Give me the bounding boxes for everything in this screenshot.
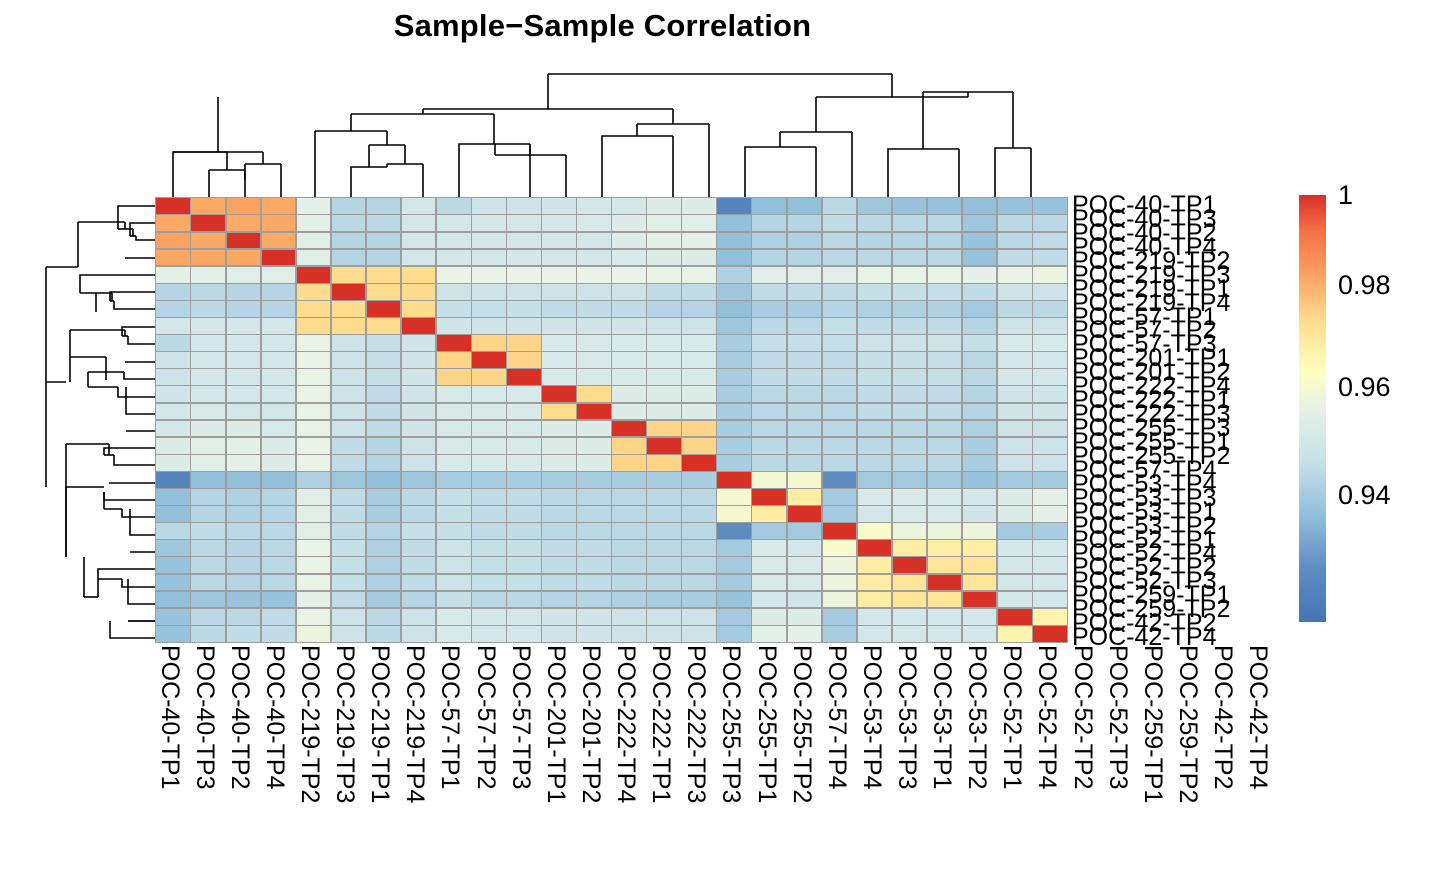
heatmap-cell — [928, 421, 962, 437]
heatmap-cell — [262, 198, 296, 214]
heatmap-cell — [262, 352, 296, 368]
heatmap-cell — [823, 284, 857, 300]
heatmap-cell — [998, 575, 1032, 591]
column-label: POC-57-TP2 — [473, 645, 498, 789]
heatmap-cell — [752, 438, 786, 454]
heatmap-cell — [472, 335, 506, 351]
heatmap-cell — [788, 267, 822, 283]
column-label: POC-53-TP2 — [964, 645, 989, 789]
heatmap-cell — [647, 472, 681, 488]
heatmap-cell — [963, 592, 997, 608]
heatmap-cell — [507, 557, 541, 573]
row-dendrogram — [18, 197, 155, 643]
heatmap-cell — [682, 609, 716, 625]
heatmap-cell — [191, 404, 225, 420]
heatmap-cell — [437, 352, 471, 368]
heatmap-cell — [402, 335, 436, 351]
heatmap-cell — [402, 421, 436, 437]
heatmap-cell — [998, 557, 1032, 573]
heatmap-cell — [788, 335, 822, 351]
heatmap-cell — [858, 369, 892, 385]
heatmap-cell — [227, 506, 261, 522]
heatmap-cell — [647, 301, 681, 317]
heatmap-cell — [788, 404, 822, 420]
heatmap-cell — [1033, 523, 1067, 539]
heatmap-cell — [191, 369, 225, 385]
heatmap-cell — [156, 506, 190, 522]
heatmap-cell — [227, 609, 261, 625]
heatmap-cell — [612, 472, 646, 488]
heatmap-cell — [542, 233, 576, 249]
heatmap-cell — [507, 215, 541, 231]
heatmap-cell — [542, 557, 576, 573]
heatmap-cell — [717, 250, 751, 266]
heatmap-cell — [612, 215, 646, 231]
heatmap-cell — [717, 626, 751, 642]
heatmap-cell — [998, 386, 1032, 402]
heatmap-cell — [577, 233, 611, 249]
heatmap-cell — [788, 233, 822, 249]
heatmap-cell — [717, 421, 751, 437]
heatmap-cell — [928, 284, 962, 300]
heatmap-cell — [367, 421, 401, 437]
heatmap-cell — [1033, 386, 1067, 402]
heatmap-cell — [998, 198, 1032, 214]
heatmap-cell — [156, 335, 190, 351]
heatmap-cell — [752, 369, 786, 385]
heatmap-cell — [682, 575, 716, 591]
heatmap-cell — [1033, 472, 1067, 488]
heatmap-cell — [402, 540, 436, 556]
heatmap-cell — [437, 335, 471, 351]
heatmap-cell — [928, 198, 962, 214]
heatmap-cell — [682, 301, 716, 317]
heatmap-cell — [858, 489, 892, 505]
heatmap-cell — [682, 557, 716, 573]
heatmap-cell — [717, 472, 751, 488]
heatmap-cell — [367, 540, 401, 556]
heatmap-cell — [788, 421, 822, 437]
heatmap-cell — [437, 404, 471, 420]
heatmap-cell — [437, 557, 471, 573]
heatmap-cell — [577, 540, 611, 556]
page-title: Sample−Sample Correlation — [0, 8, 1205, 44]
heatmap-cell — [647, 506, 681, 522]
heatmap-cell — [297, 438, 331, 454]
heatmap-cell — [893, 404, 927, 420]
heatmap-cell — [752, 421, 786, 437]
heatmap-cell — [542, 198, 576, 214]
heatmap-cell — [542, 284, 576, 300]
column-label: POC-219-TP4 — [402, 645, 427, 803]
heatmap-cell — [893, 301, 927, 317]
heatmap-cell — [717, 215, 751, 231]
column-label: POC-53-TP4 — [859, 645, 884, 789]
heatmap-cell — [191, 215, 225, 231]
heatmap-cell — [332, 506, 366, 522]
heatmap-cell — [367, 301, 401, 317]
heatmap-cell — [612, 369, 646, 385]
heatmap-cell — [823, 438, 857, 454]
heatmap-cell — [752, 335, 786, 351]
heatmap-cell — [858, 609, 892, 625]
heatmap-cell — [437, 523, 471, 539]
heatmap-cell — [612, 284, 646, 300]
heatmap-cell — [472, 301, 506, 317]
column-label: POC-57-TP1 — [437, 645, 462, 789]
heatmap-cell — [752, 267, 786, 283]
heatmap-cell — [367, 352, 401, 368]
heatmap-cell — [647, 386, 681, 402]
heatmap-cell — [507, 421, 541, 437]
heatmap-cell — [156, 369, 190, 385]
heatmap-cell — [858, 557, 892, 573]
column-label: POC-201-TP1 — [543, 645, 568, 803]
heatmap-cell — [402, 233, 436, 249]
heatmap-cell — [893, 489, 927, 505]
heatmap-cell — [402, 386, 436, 402]
heatmap-cell — [752, 386, 786, 402]
heatmap-cell — [191, 489, 225, 505]
column-dendrogram — [155, 52, 1068, 197]
heatmap-cell — [752, 352, 786, 368]
heatmap-cell — [893, 215, 927, 231]
heatmap-cell — [823, 198, 857, 214]
heatmap-cell — [963, 472, 997, 488]
heatmap-cell — [507, 318, 541, 334]
heatmap-cell — [682, 267, 716, 283]
heatmap-cell — [893, 233, 927, 249]
heatmap-cell — [647, 369, 681, 385]
heatmap-cell — [472, 318, 506, 334]
heatmap-grid[interactable] — [155, 197, 1068, 643]
heatmap-cell — [472, 626, 506, 642]
heatmap-cell — [963, 557, 997, 573]
heatmap-cell — [507, 592, 541, 608]
heatmap-cell — [893, 335, 927, 351]
heatmap-cell — [752, 215, 786, 231]
heatmap-cell — [647, 233, 681, 249]
heatmap-cell — [963, 523, 997, 539]
heatmap-cell — [367, 609, 401, 625]
heatmap-cell — [823, 455, 857, 471]
heatmap-cell — [788, 489, 822, 505]
heatmap-cell — [1033, 506, 1067, 522]
heatmap-cell — [191, 592, 225, 608]
heatmap-cell — [963, 318, 997, 334]
heatmap-cell — [717, 352, 751, 368]
heatmap-cell — [998, 592, 1032, 608]
heatmap-cell — [682, 489, 716, 505]
column-label: POC-222-TP1 — [648, 645, 673, 803]
heatmap-cell — [998, 421, 1032, 437]
heatmap-cell — [332, 489, 366, 505]
heatmap-cell — [297, 318, 331, 334]
heatmap-cell — [191, 250, 225, 266]
heatmap-cell — [472, 438, 506, 454]
heatmap-cell — [893, 352, 927, 368]
heatmap-cell — [542, 335, 576, 351]
heatmap-cell — [963, 404, 997, 420]
heatmap-cell — [998, 523, 1032, 539]
heatmap-cell — [788, 472, 822, 488]
heatmap-cell — [963, 421, 997, 437]
heatmap-cell — [577, 250, 611, 266]
heatmap-cell — [752, 455, 786, 471]
heatmap-cell — [647, 609, 681, 625]
heatmap-cell — [612, 557, 646, 573]
heatmap-cell — [647, 421, 681, 437]
heatmap-cell — [647, 215, 681, 231]
heatmap-cell — [963, 369, 997, 385]
heatmap-cell — [963, 250, 997, 266]
heatmap-cell — [262, 404, 296, 420]
heatmap-cell — [858, 335, 892, 351]
heatmap-cell — [858, 198, 892, 214]
heatmap-cell — [156, 215, 190, 231]
heatmap-cell — [542, 267, 576, 283]
heatmap-cell — [928, 215, 962, 231]
heatmap-cell — [191, 233, 225, 249]
column-label: POC-219-TP2 — [297, 645, 322, 803]
heatmap-cell — [963, 609, 997, 625]
heatmap-cell — [647, 335, 681, 351]
heatmap-cell — [402, 215, 436, 231]
heatmap-cell — [823, 233, 857, 249]
heatmap-cell — [297, 575, 331, 591]
heatmap-cell — [647, 540, 681, 556]
heatmap-cell — [858, 386, 892, 402]
heatmap-cell — [227, 233, 261, 249]
heatmap-cell — [612, 198, 646, 214]
column-label: POC-219-TP1 — [367, 645, 392, 803]
heatmap-cell — [332, 301, 366, 317]
column-label: POC-53-TP3 — [894, 645, 919, 789]
heatmap-cell — [612, 438, 646, 454]
heatmap-cell — [297, 198, 331, 214]
heatmap-cell — [542, 318, 576, 334]
heatmap-cell — [542, 438, 576, 454]
heatmap-cell — [612, 540, 646, 556]
heatmap-cell — [297, 609, 331, 625]
heatmap-cell — [998, 301, 1032, 317]
heatmap-cell — [928, 540, 962, 556]
heatmap-cell — [1033, 250, 1067, 266]
heatmap-cell — [227, 438, 261, 454]
heatmap-cell — [1033, 267, 1067, 283]
heatmap-cell — [893, 540, 927, 556]
heatmap-cell — [332, 267, 366, 283]
heatmap-cell — [1033, 335, 1067, 351]
heatmap-cell — [332, 609, 366, 625]
heatmap-cell — [788, 506, 822, 522]
heatmap-cell — [507, 575, 541, 591]
heatmap-cell — [577, 489, 611, 505]
heatmap-cell — [297, 506, 331, 522]
heatmap-cell — [542, 369, 576, 385]
heatmap-cell — [437, 215, 471, 231]
heatmap-cell — [437, 233, 471, 249]
heatmap-cell — [262, 301, 296, 317]
heatmap-cell — [577, 198, 611, 214]
heatmap-cell — [191, 557, 225, 573]
heatmap-cell — [191, 267, 225, 283]
heatmap-cell — [577, 369, 611, 385]
heatmap-cell — [227, 626, 261, 642]
heatmap-cell — [682, 455, 716, 471]
heatmap-cell — [752, 592, 786, 608]
heatmap-cell — [472, 233, 506, 249]
heatmap-cell — [682, 386, 716, 402]
heatmap-cell — [577, 267, 611, 283]
column-label: POC-42-TP4 — [1245, 645, 1270, 789]
heatmap-cell — [472, 215, 506, 231]
heatmap-cell — [262, 421, 296, 437]
heatmap-cell — [647, 455, 681, 471]
heatmap-cell — [647, 404, 681, 420]
heatmap-cell — [542, 472, 576, 488]
heatmap-cell — [717, 198, 751, 214]
heatmap-cell — [893, 198, 927, 214]
heatmap-cell — [297, 352, 331, 368]
heatmap-cell — [156, 575, 190, 591]
heatmap-cell — [1033, 369, 1067, 385]
heatmap-cell — [858, 506, 892, 522]
heatmap-cell — [752, 318, 786, 334]
heatmap-cell — [928, 592, 962, 608]
legend-tick-096: 0.96 — [1338, 374, 1391, 401]
heatmap-cell — [858, 301, 892, 317]
heatmap-cell — [1033, 215, 1067, 231]
heatmap-cell — [262, 386, 296, 402]
heatmap-cell — [1033, 318, 1067, 334]
heatmap-cell — [612, 506, 646, 522]
heatmap-cell — [367, 318, 401, 334]
heatmap-cell — [788, 386, 822, 402]
heatmap-cell — [577, 215, 611, 231]
heatmap-cell — [297, 523, 331, 539]
heatmap-cell — [823, 540, 857, 556]
heatmap-cell — [332, 250, 366, 266]
heatmap-cell — [647, 557, 681, 573]
heatmap-cell — [928, 523, 962, 539]
heatmap-cell — [647, 523, 681, 539]
heatmap-cell — [893, 369, 927, 385]
column-label: POC-259-TP1 — [1140, 645, 1165, 803]
heatmap-cell — [262, 506, 296, 522]
color-legend-bar — [1299, 195, 1326, 622]
heatmap-cell — [577, 284, 611, 300]
heatmap-cell — [577, 557, 611, 573]
heatmap-cell — [577, 506, 611, 522]
heatmap-cell — [788, 438, 822, 454]
heatmap-cell — [507, 267, 541, 283]
heatmap-cell — [998, 609, 1032, 625]
heatmap-cell — [191, 386, 225, 402]
heatmap-cell — [752, 557, 786, 573]
heatmap-cell — [928, 318, 962, 334]
heatmap-cell — [788, 301, 822, 317]
heatmap-cell — [367, 472, 401, 488]
heatmap-cell — [998, 626, 1032, 642]
heatmap-cell — [156, 540, 190, 556]
heatmap-cell — [788, 250, 822, 266]
heatmap-cell — [823, 489, 857, 505]
heatmap-cell — [963, 438, 997, 454]
heatmap-cell — [437, 318, 471, 334]
heatmap-cell — [612, 318, 646, 334]
heatmap-cell — [752, 609, 786, 625]
heatmap-cell — [507, 438, 541, 454]
heatmap-cell — [647, 284, 681, 300]
heatmap-cell — [472, 284, 506, 300]
heatmap-cell — [963, 267, 997, 283]
heatmap-cell — [402, 404, 436, 420]
heatmap-cell — [752, 523, 786, 539]
heatmap-cell — [437, 489, 471, 505]
heatmap-cell — [262, 335, 296, 351]
heatmap-cell — [963, 198, 997, 214]
heatmap-cell — [682, 369, 716, 385]
heatmap-cell — [823, 404, 857, 420]
heatmap-cell — [262, 233, 296, 249]
heatmap-cell — [472, 472, 506, 488]
heatmap-cell — [472, 557, 506, 573]
heatmap-cell — [647, 575, 681, 591]
heatmap-cell — [297, 369, 331, 385]
heatmap-cell — [297, 626, 331, 642]
heatmap-cell — [963, 540, 997, 556]
heatmap-cell — [297, 404, 331, 420]
heatmap-cell — [297, 215, 331, 231]
heatmap-cell — [227, 421, 261, 437]
heatmap-cell — [1033, 421, 1067, 437]
heatmap-cell — [227, 404, 261, 420]
heatmap-cell — [752, 301, 786, 317]
heatmap-cell — [507, 301, 541, 317]
heatmap-cell — [472, 609, 506, 625]
heatmap-cell — [577, 592, 611, 608]
heatmap-cell — [1033, 455, 1067, 471]
heatmap-cell — [542, 489, 576, 505]
heatmap-cell — [156, 352, 190, 368]
heatmap-cell — [858, 318, 892, 334]
heatmap-cell — [788, 215, 822, 231]
heatmap-cell — [963, 284, 997, 300]
heatmap-cell — [262, 369, 296, 385]
heatmap-cell — [823, 557, 857, 573]
heatmap-cell — [156, 609, 190, 625]
heatmap-cell — [437, 438, 471, 454]
heatmap-cell — [823, 318, 857, 334]
heatmap-cell — [998, 267, 1032, 283]
heatmap-cell — [893, 455, 927, 471]
heatmap-cell — [472, 386, 506, 402]
heatmap-cell — [156, 404, 190, 420]
heatmap-cell — [542, 540, 576, 556]
heatmap-cell — [191, 352, 225, 368]
heatmap-cell — [717, 233, 751, 249]
heatmap-cell — [542, 421, 576, 437]
heatmap-cell — [928, 404, 962, 420]
heatmap-cell — [928, 455, 962, 471]
heatmap-cell — [191, 575, 225, 591]
heatmap-cell — [297, 592, 331, 608]
heatmap-cell — [262, 472, 296, 488]
heatmap-cell — [227, 301, 261, 317]
heatmap-cell — [612, 386, 646, 402]
heatmap-cell — [472, 404, 506, 420]
